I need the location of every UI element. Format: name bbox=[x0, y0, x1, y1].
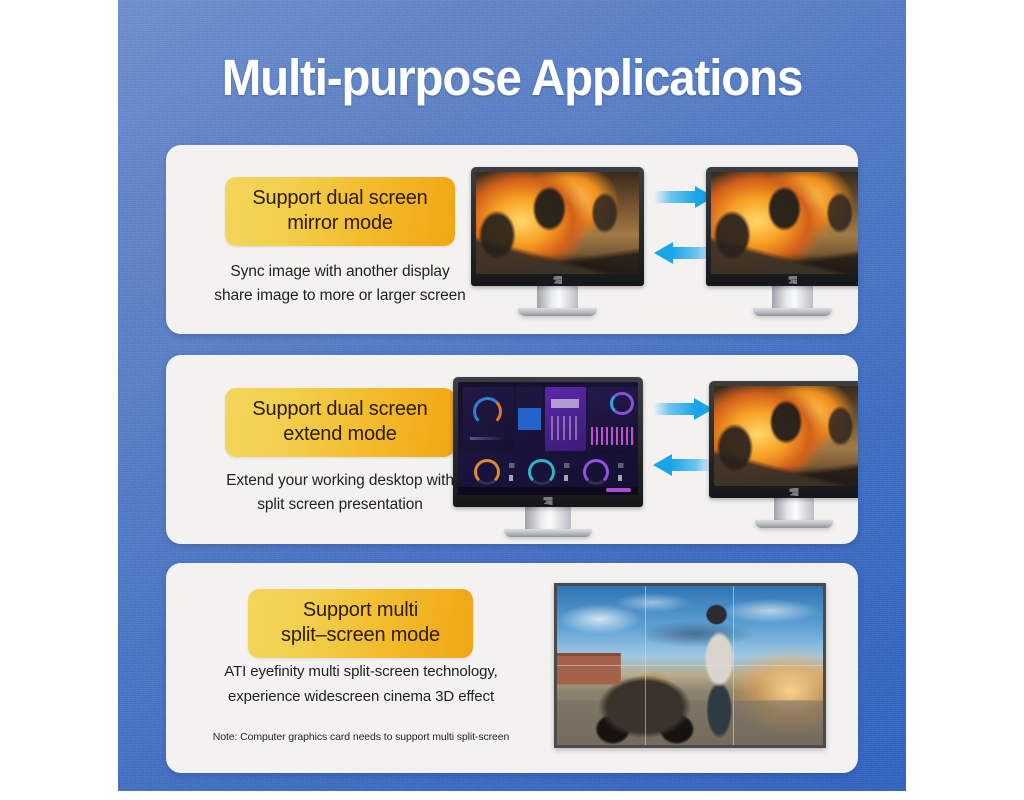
windows-logo-icon bbox=[790, 488, 799, 496]
description-multi-split-screen: ATI eyefinity multi split-screen technol… bbox=[186, 659, 536, 709]
monitor-right-mirror bbox=[706, 167, 858, 316]
monitor-bezel bbox=[709, 381, 858, 498]
kpi-label bbox=[509, 463, 519, 481]
monitor-left-extend bbox=[453, 377, 643, 537]
game-scene-image bbox=[714, 386, 858, 486]
dashboard-widget-grid bbox=[463, 387, 632, 491]
monitor-screen-game bbox=[711, 172, 858, 274]
card-extend-mode: Support dual screen extend mode Extend y… bbox=[166, 355, 858, 544]
game-scene-image bbox=[711, 172, 858, 274]
windows-logo-icon bbox=[553, 276, 562, 284]
dashboard-highlight-widget bbox=[545, 387, 586, 451]
dashboard-scene-image bbox=[458, 382, 638, 495]
card-mirror-mode: Support dual screen mirror mode Sync ima… bbox=[166, 145, 858, 334]
monitor-left-mirror bbox=[471, 167, 644, 316]
windows-logo-icon bbox=[544, 497, 553, 505]
video-wall-panel bbox=[646, 666, 735, 746]
monitor-screen-dashboard bbox=[458, 382, 638, 495]
badge-extend-mode: Support dual screen extend mode bbox=[225, 388, 455, 457]
monitor-neck bbox=[772, 286, 814, 308]
kpi-ring-icon bbox=[528, 459, 554, 485]
monitor-base bbox=[753, 308, 833, 316]
kpi-ring-icon bbox=[474, 459, 500, 485]
monitor-right-extend bbox=[709, 381, 858, 528]
badge-mirror-mode: Support dual screen mirror mode bbox=[225, 177, 455, 246]
monitor-screen-game bbox=[714, 386, 858, 486]
arrow-left-icon bbox=[654, 242, 714, 264]
kpi-label bbox=[618, 463, 628, 481]
monitor-screen-game bbox=[476, 172, 639, 274]
arrow-right-icon bbox=[654, 186, 714, 208]
game-scene-image bbox=[476, 172, 639, 274]
screenshot-root: Multi-purpose Applications Support dual … bbox=[0, 0, 1024, 800]
badge-multi-split-screen: Support multi split–screen mode bbox=[248, 589, 473, 658]
monitor-bezel bbox=[471, 167, 644, 286]
video-wall-panel bbox=[734, 666, 823, 746]
blue-background-panel: Multi-purpose Applications Support dual … bbox=[118, 0, 906, 791]
dashboard-taskbar bbox=[458, 487, 638, 495]
arrow-left-icon bbox=[653, 454, 713, 476]
arrow-group-mirror bbox=[654, 175, 714, 275]
video-wall-panel bbox=[734, 586, 823, 666]
kpi-label bbox=[564, 463, 574, 481]
video-wall-panel bbox=[557, 586, 646, 666]
windows-logo-icon bbox=[788, 276, 797, 284]
monitor-base bbox=[755, 520, 833, 528]
monitor-bezel bbox=[706, 167, 858, 286]
kpi-ring-icon bbox=[583, 459, 609, 485]
arrow-right-icon bbox=[653, 398, 713, 420]
page-title: Multi-purpose Applications bbox=[146, 48, 879, 107]
description-extend-mode: Extend your working desktop with split s… bbox=[184, 469, 496, 517]
monitor-bezel bbox=[453, 377, 643, 507]
description-mirror-mode: Sync image with another display share im… bbox=[184, 260, 496, 308]
monitor-neck bbox=[537, 286, 579, 308]
note-text: Note: Computer graphics card needs to su… bbox=[186, 731, 536, 743]
dashboard-stats-widget bbox=[516, 387, 543, 451]
dashboard-chart-widget bbox=[588, 387, 638, 451]
video-wall-panel bbox=[646, 586, 735, 666]
video-wall-grid bbox=[557, 586, 823, 745]
video-wall bbox=[554, 583, 826, 748]
monitor-neck bbox=[525, 507, 571, 529]
monitor-neck bbox=[774, 498, 815, 520]
dashboard-gauge-widget bbox=[463, 387, 514, 451]
video-wall-panel bbox=[557, 666, 646, 746]
arrow-group-extend bbox=[653, 387, 713, 487]
monitor-base bbox=[518, 308, 598, 316]
card-multi-split-screen-mode: Support multi split–screen mode ATI eyef… bbox=[166, 563, 858, 773]
monitor-base bbox=[504, 529, 591, 537]
